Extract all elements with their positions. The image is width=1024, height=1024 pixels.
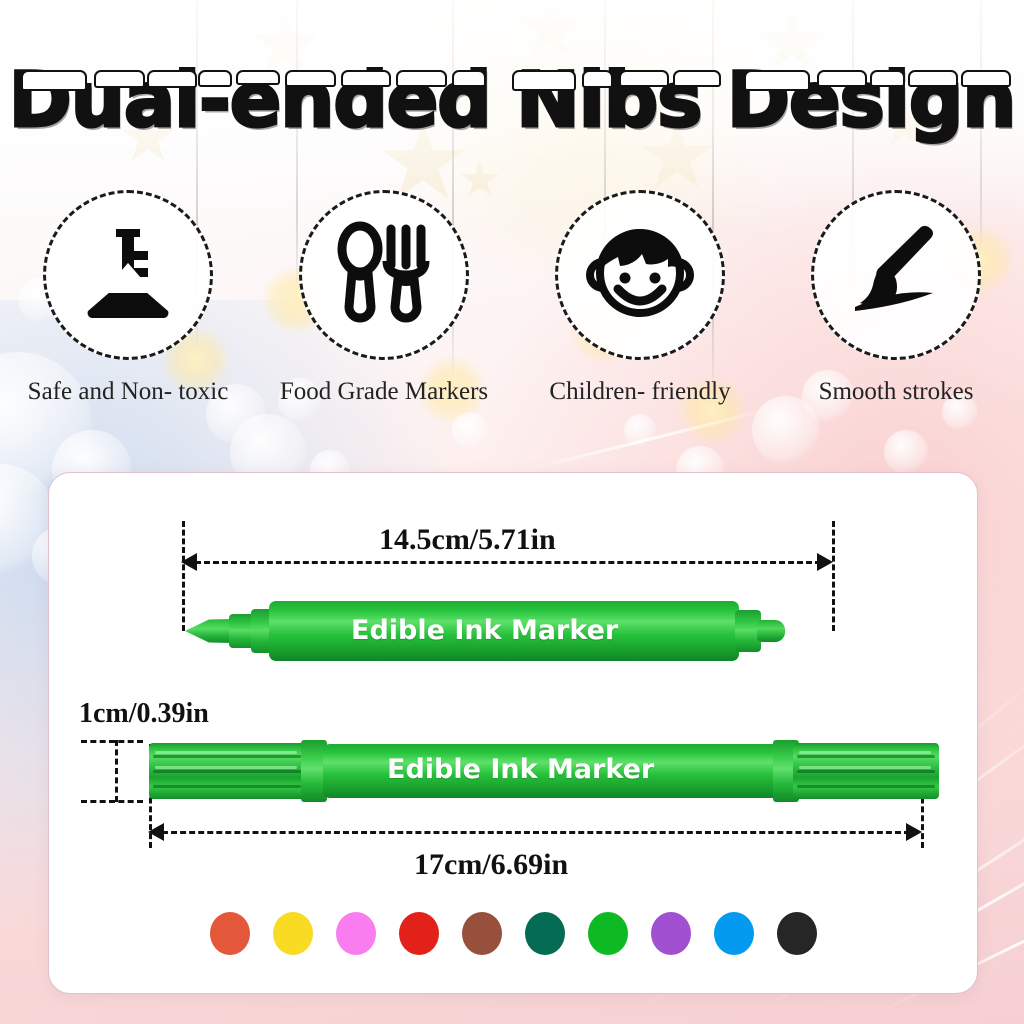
feature-item-children-friendly: Children- friendly (525, 190, 755, 406)
cap-rib (797, 755, 935, 758)
feature-label: Food Grade Markers (280, 378, 488, 406)
feature-label: Safe and Non- toxic (28, 378, 229, 406)
cap-rib-highlight (155, 751, 297, 754)
width-guide-bottom (81, 800, 143, 803)
marker-open-length-label: 14.5cm/5.71in (379, 523, 556, 557)
product-infographic: Dual-ended Nibs Design Safe and Non- tox… (0, 0, 1024, 1024)
marker-capped-length-label: 17cm/6.69in (414, 848, 568, 882)
page-title: Dual-ended Nibs Design (9, 55, 1016, 144)
child-face-icon (585, 223, 695, 328)
feature-item-food-grade: Food Grade Markers (269, 190, 499, 406)
feature-label: Smooth strokes (819, 378, 974, 406)
color-swatch-row (49, 903, 977, 963)
dimension-arrow-right (817, 553, 833, 571)
dimension-line (195, 561, 821, 564)
color-swatch-black (777, 912, 817, 955)
marker-capped-diagram: 1cm/0.39in 17cm/6.69in (49, 688, 977, 878)
color-swatch-red (399, 912, 439, 955)
feature-item-safe-non-toxic: Safe and Non- toxic (13, 190, 243, 406)
cap-rib (153, 755, 301, 758)
width-guide-line (115, 740, 118, 802)
color-swatch-blue (714, 912, 754, 955)
color-swatch-pink (336, 912, 376, 955)
feature-icon-circle (811, 190, 981, 360)
marker-capped-illustration: Edible Ink Marker (149, 740, 939, 814)
dimension-arrow-left (181, 553, 197, 571)
marker-capped-brand-label: Edible Ink Marker (387, 754, 654, 785)
title-area: Dual-ended Nibs Design (0, 44, 1024, 154)
cap-rib (153, 785, 301, 788)
marker-open-illustration: Edible Ink Marker (185, 601, 845, 671)
feature-item-smooth-strokes: Smooth strokes (781, 190, 1011, 406)
length-dimension-line (162, 831, 910, 834)
marker-open-diagram: 14.5cm/5.71in Edible Ink Marker (49, 473, 977, 693)
length-arrow-right (906, 823, 922, 841)
feature-label: Children- friendly (549, 378, 730, 406)
cap-rib-highlight (155, 766, 297, 769)
feature-list: Safe and Non- toxic Food Grade Markers (0, 190, 1024, 406)
feature-icon-circle (555, 190, 725, 360)
flask-icon (80, 223, 176, 328)
cutlery-icon (334, 221, 434, 330)
marker-capped-width-label: 1cm/0.39in (79, 698, 209, 730)
feature-icon-circle (299, 190, 469, 360)
bokeh-circle (624, 414, 656, 446)
cap-rib-highlight (799, 751, 931, 754)
color-swatch-purple (651, 912, 691, 955)
length-arrow-left (148, 823, 164, 841)
product-card: 14.5cm/5.71in Edible Ink Marker 1cm/0.39… (48, 472, 978, 994)
cap-rib (797, 770, 935, 773)
color-swatch-brown (462, 912, 502, 955)
color-swatch-dark-green (525, 912, 565, 955)
cap-rib-highlight (799, 766, 931, 769)
paintbrush-icon (843, 223, 949, 328)
marker-bullet-tip (757, 620, 785, 642)
marker-open-brand-label: Edible Ink Marker (351, 615, 618, 646)
bokeh-circle (452, 412, 488, 448)
color-swatch-green (588, 912, 628, 955)
cap-rib (153, 770, 301, 773)
marker-brush-tip (185, 619, 231, 643)
width-guide-top (81, 740, 143, 743)
cap-rib (797, 785, 935, 788)
color-swatch-yellow (273, 912, 313, 955)
color-swatch-orange (210, 912, 250, 955)
bokeh-circle (884, 430, 928, 474)
feature-icon-circle (43, 190, 213, 360)
